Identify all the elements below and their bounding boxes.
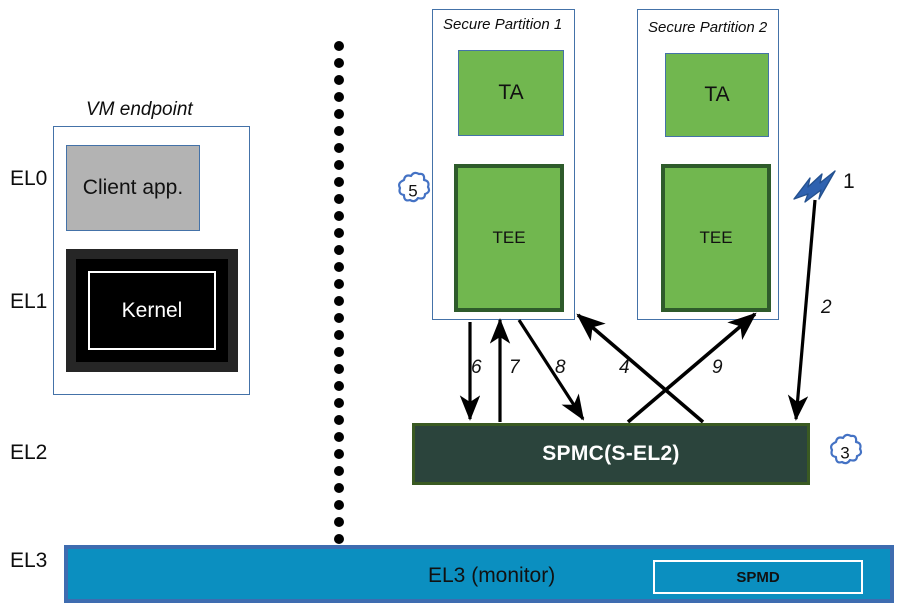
callout-3: 3 (823, 432, 867, 476)
arrow-label-9: 9 (712, 357, 723, 379)
lightning-bolt-icon (791, 168, 839, 214)
interrupt-label-1: 1 (843, 170, 855, 194)
spmc-box: SPMC(S-EL2) (412, 423, 810, 485)
arrow-label-2: 2 (821, 297, 832, 319)
arrow-label-8: 8 (555, 357, 566, 379)
spmc-label: SPMC(S-EL2) (542, 442, 679, 466)
diagram-canvas: EL0 EL1 EL2 EL3 VM endpoint Client app. … (0, 0, 902, 608)
arrow-label-4: 4 (619, 357, 630, 379)
arrow-9 (628, 314, 755, 422)
arrow-layer (0, 0, 902, 608)
arrow-label-7: 7 (509, 357, 520, 379)
arrow-4 (578, 315, 703, 422)
callout-5: 5 (391, 170, 435, 214)
spmd-label: SPMD (736, 569, 779, 586)
cloud-icon-3 (823, 432, 867, 476)
cloud-icon-5 (391, 170, 435, 214)
arrow-2 (796, 200, 815, 419)
el3-monitor-label: EL3 (monitor) (428, 564, 555, 588)
arrow-8 (519, 320, 583, 419)
spmd-box: SPMD (653, 560, 863, 594)
arrow-label-6: 6 (471, 357, 482, 379)
el3-monitor-bar: EL3 (monitor) SPMD (64, 545, 894, 603)
